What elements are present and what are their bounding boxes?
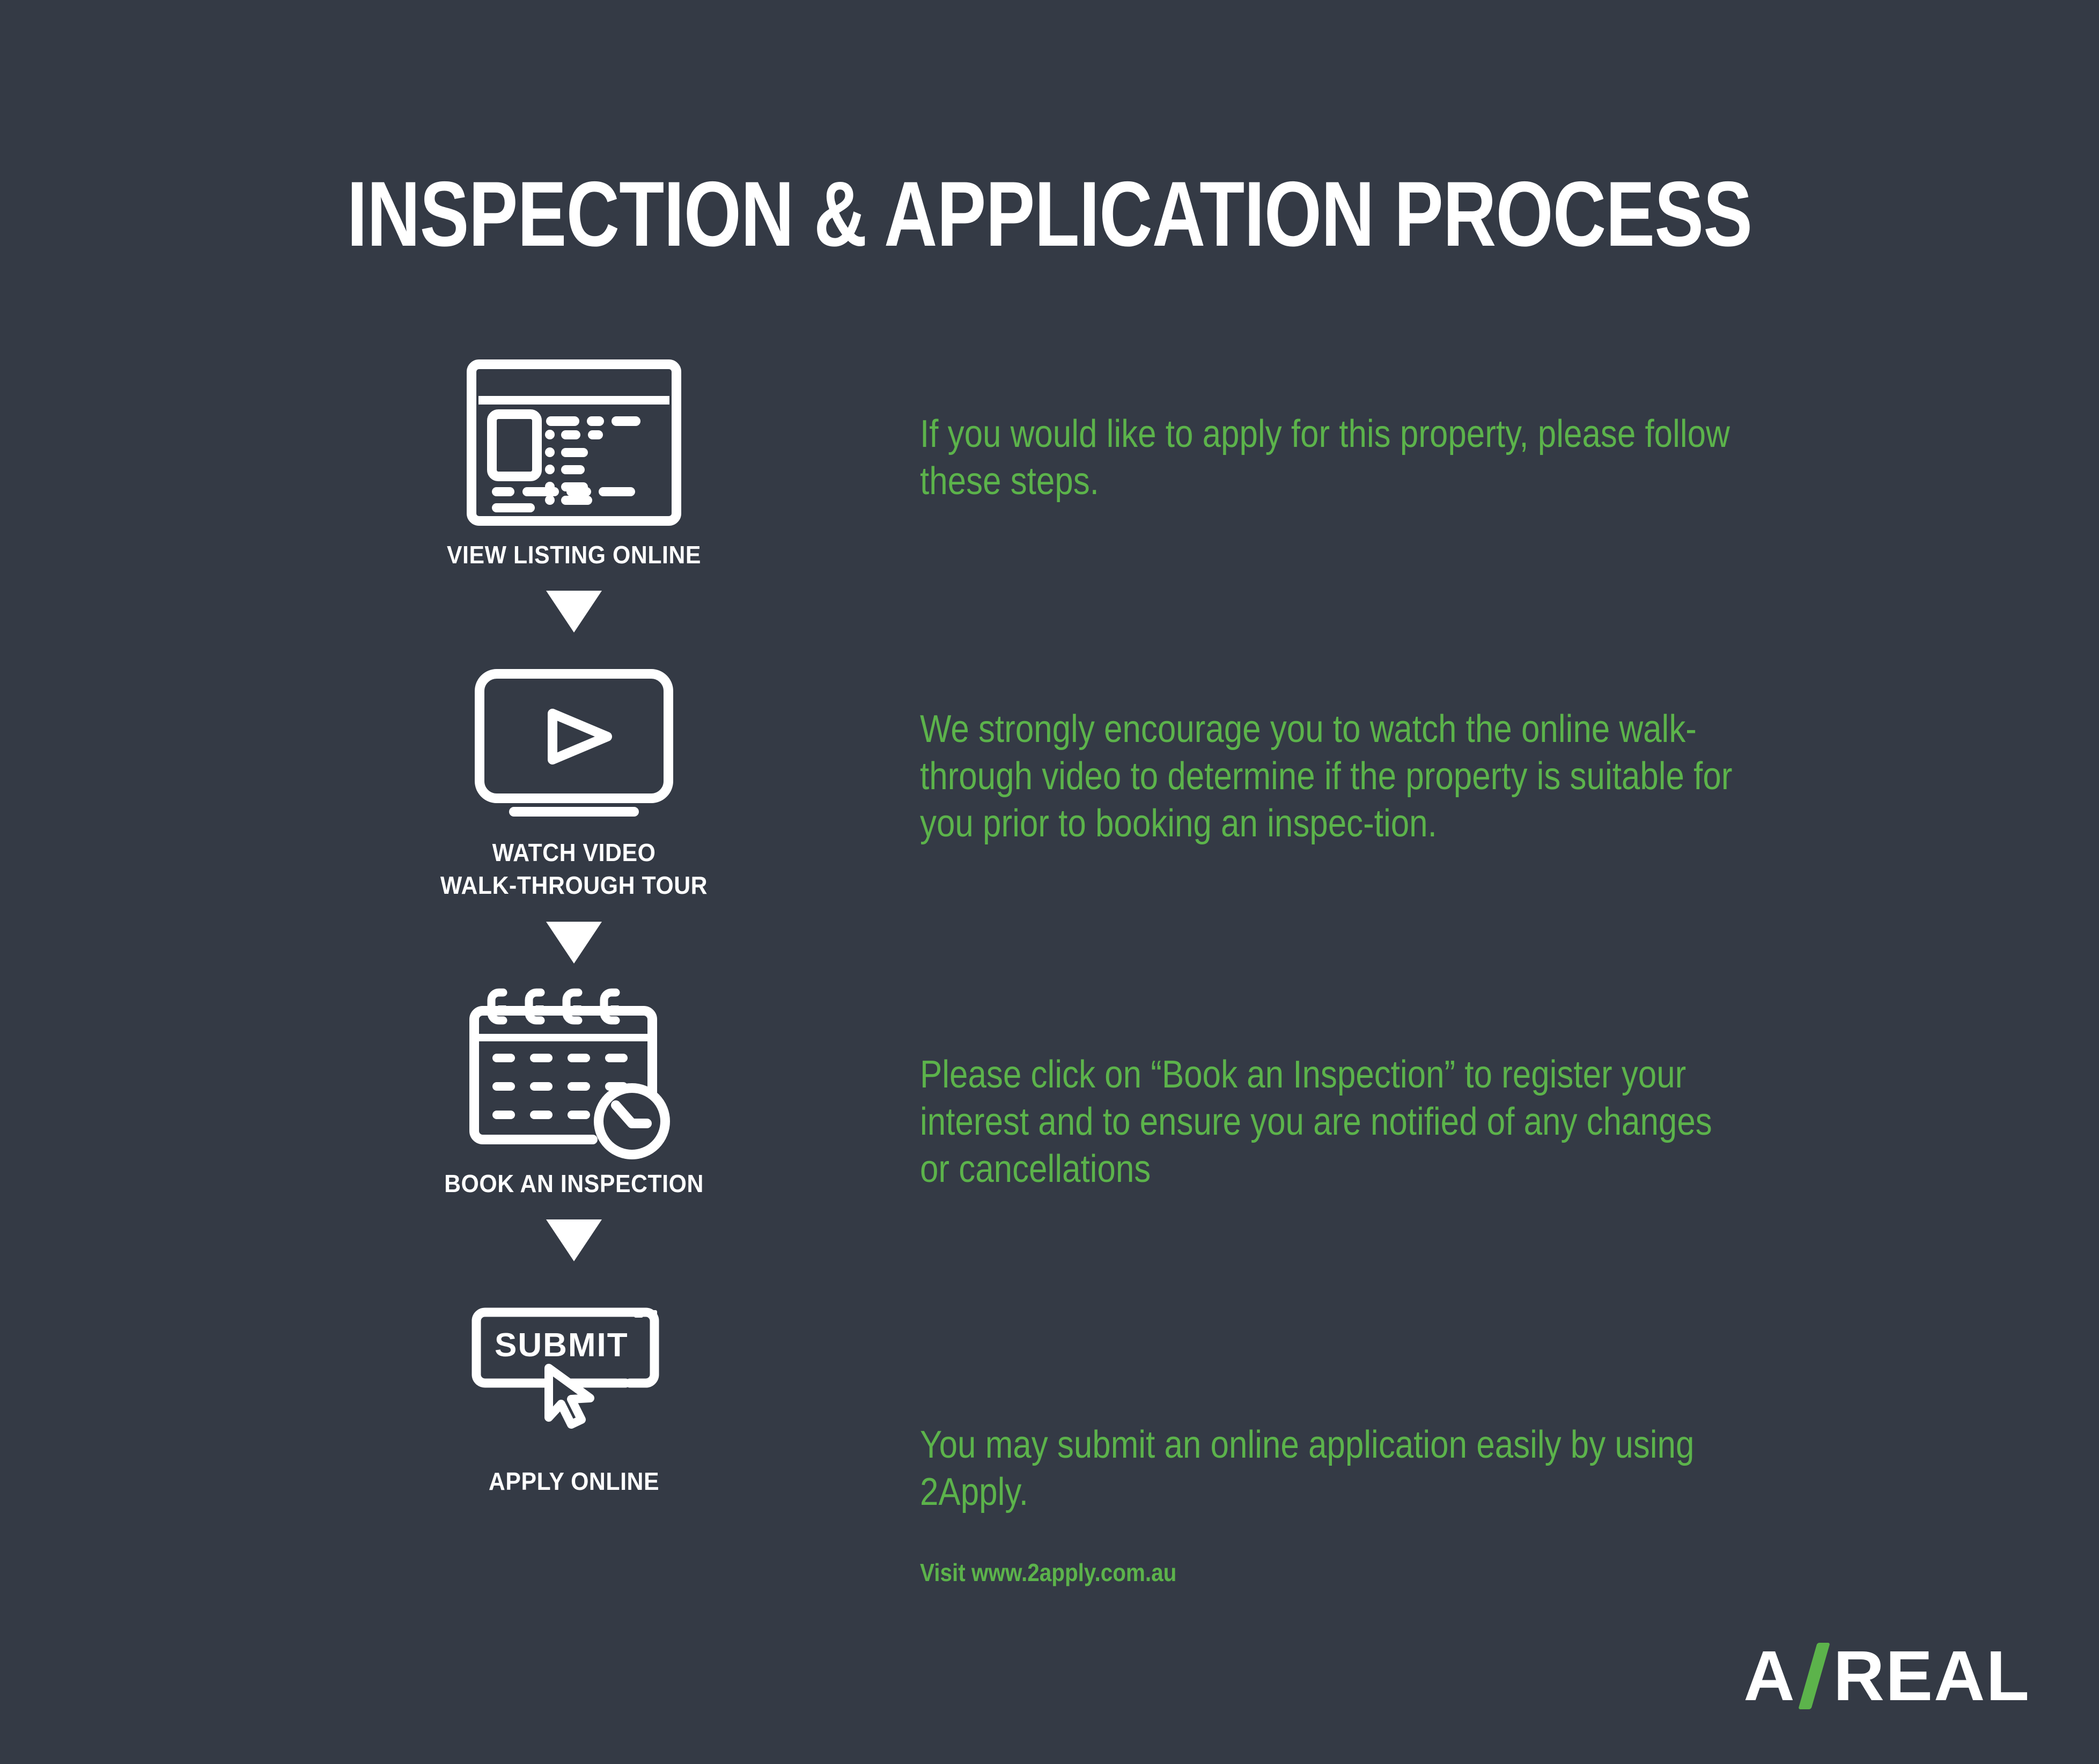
page-title: INSPECTION & APPLICATION PROCESS: [210, 161, 1889, 267]
step-label-view-listing-online: VIEW LISTING ONLINE: [359, 539, 789, 571]
calendar-clock-icon: [343, 983, 805, 1160]
step-watch-video: WATCH VIDEO WALK-THROUGH TOUR: [343, 652, 805, 902]
flow-arrow-1: [343, 571, 805, 652]
down-triangle-icon: [546, 922, 602, 964]
description-view-listing: If you would like to apply for this prop…: [920, 411, 1746, 505]
description-book-inspection: Please click on “Book an Inspection” to …: [920, 1052, 1746, 1193]
process-steps-column: VIEW LISTING ONLINE WATCH VIDEO WALK-THR…: [343, 354, 805, 1498]
step-apply-online: SUBMIT APPLY ONLINE: [343, 1281, 805, 1498]
step-label-book-inspection: BOOK AN INSPECTION: [359, 1167, 789, 1200]
description-watch-video: We strongly encourage you to watch the o…: [920, 706, 1746, 847]
visit-url-line[interactable]: Visit www.2apply.com.au: [920, 1558, 1176, 1587]
down-triangle-icon: [546, 1219, 602, 1261]
logo-letter-a: A: [1743, 1641, 1795, 1711]
logo-word-real: REAL: [1833, 1641, 2030, 1711]
step-label-watch-video: WATCH VIDEO WALK-THROUGH TOUR: [359, 836, 789, 902]
down-triangle-icon: [546, 591, 602, 633]
step-book-inspection: BOOK AN INSPECTION: [343, 983, 805, 1200]
step-label-apply-online: APPLY ONLINE: [359, 1465, 789, 1498]
description-apply-online: You may submit an online application eas…: [920, 1422, 1746, 1516]
step-view-listing-online: VIEW LISTING ONLINE: [343, 354, 805, 571]
logo-slash-icon: [1798, 1644, 1831, 1708]
video-play-screen-icon: [343, 652, 805, 829]
submit-icon-text: SUBMIT: [495, 1327, 629, 1364]
browser-listing-icon: [343, 354, 805, 531]
flow-arrow-2: [343, 902, 805, 983]
brand-logo: A REAL: [1743, 1644, 2030, 1708]
submit-button-cursor-icon: SUBMIT: [343, 1281, 805, 1458]
flow-arrow-3: [343, 1200, 805, 1281]
